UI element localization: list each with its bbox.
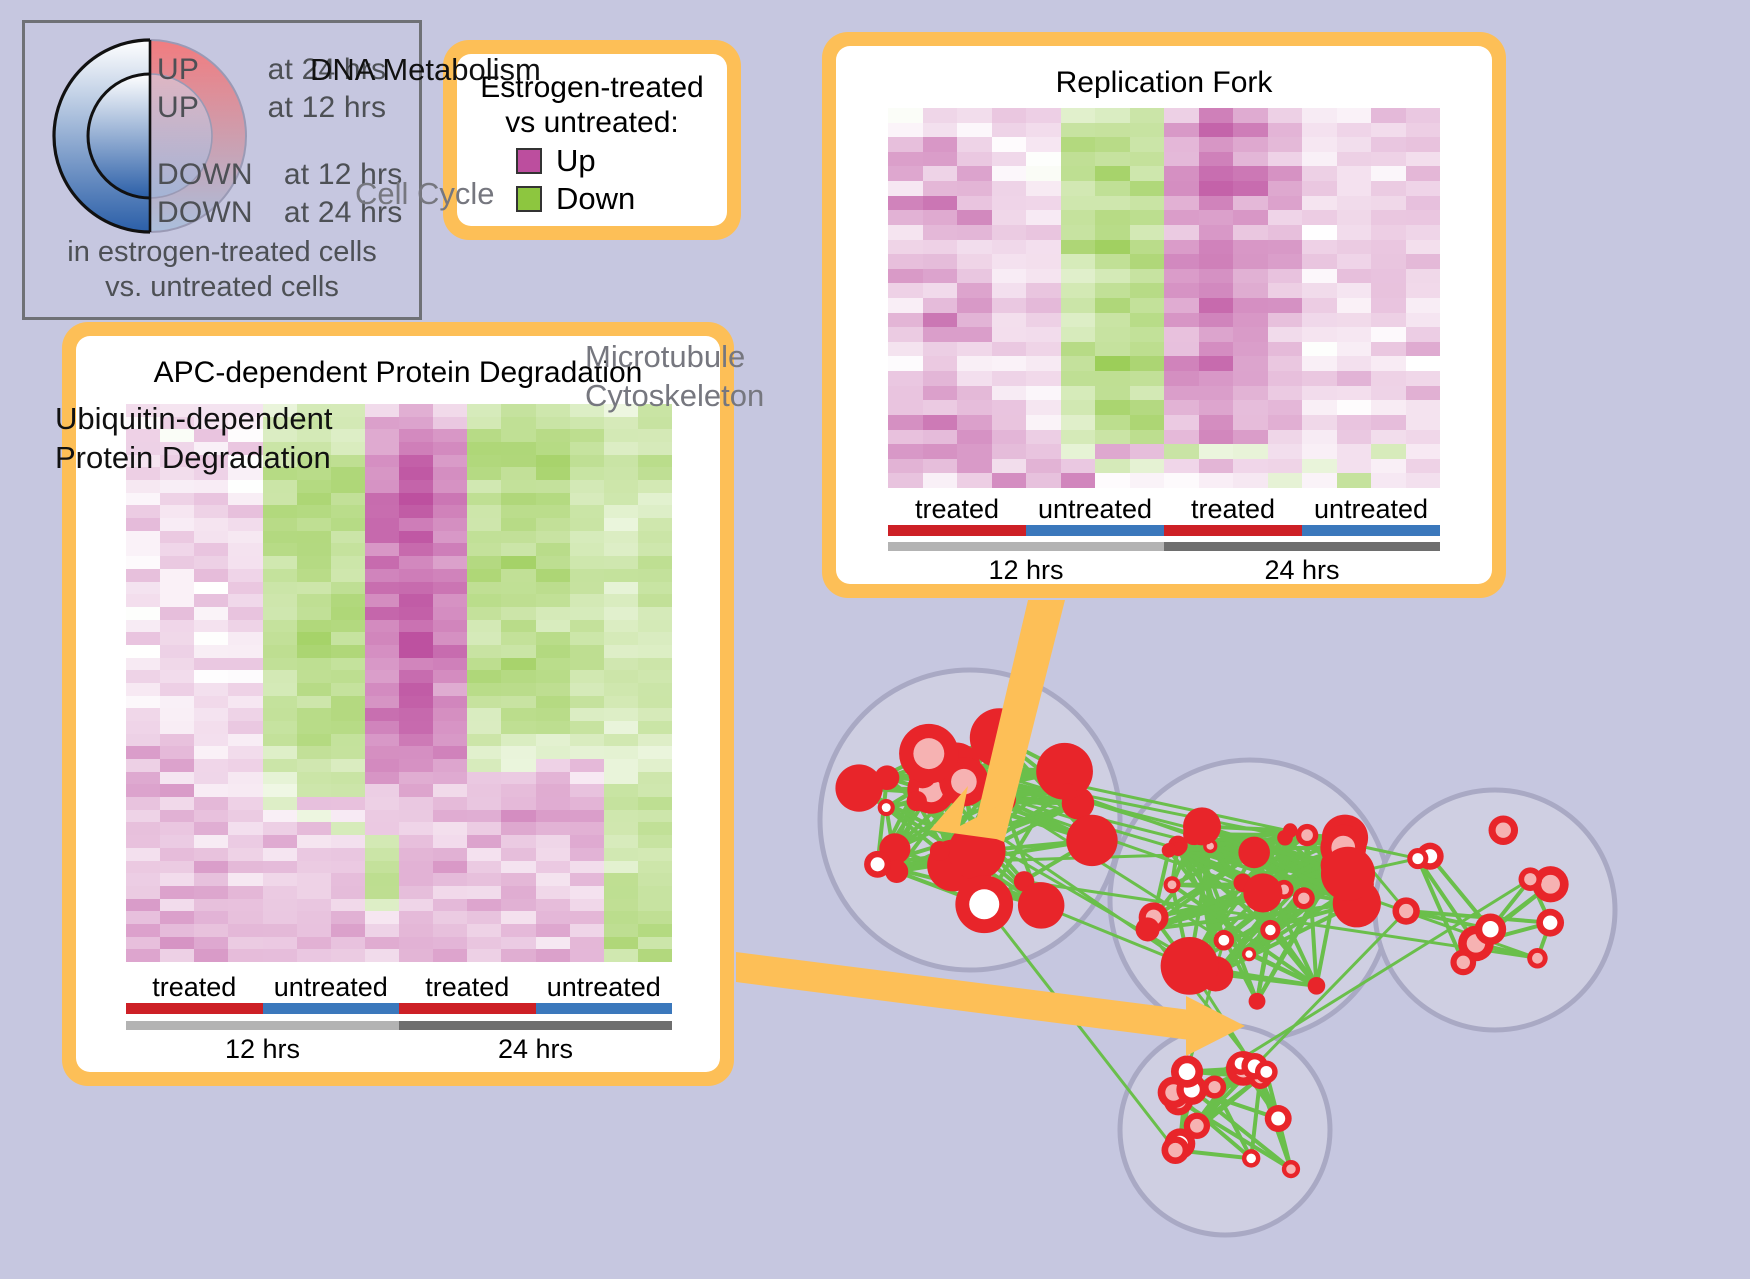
heatmap-cell xyxy=(399,797,433,810)
heatmap-cell xyxy=(399,861,433,874)
heatmap-cell xyxy=(536,873,570,886)
heatmap-cell xyxy=(1268,225,1303,240)
heatmap-cell xyxy=(194,734,228,747)
heatmap-cell xyxy=(297,949,331,962)
heatmap-cell xyxy=(433,924,467,937)
heatmap-cell xyxy=(263,543,297,556)
heatmap-cell xyxy=(194,721,228,734)
heatmap-cell xyxy=(957,254,992,269)
heatmap-cell xyxy=(263,594,297,607)
heatmap-cell xyxy=(501,493,535,506)
heatmap-cell xyxy=(399,835,433,848)
heatmap-cell xyxy=(1302,181,1337,196)
heatmap-cell xyxy=(1164,283,1199,298)
heatmap-cell xyxy=(1199,269,1234,284)
heatmap-cell xyxy=(992,196,1027,211)
heatmap-cell xyxy=(297,708,331,721)
heatmap-cell xyxy=(399,455,433,468)
heatmap-cell xyxy=(126,822,160,835)
heatmap-cell xyxy=(365,607,399,620)
network-node-core xyxy=(1301,829,1313,841)
heatmap-cell xyxy=(365,417,399,430)
heatmap-cell xyxy=(1233,210,1268,225)
heatmap-cell xyxy=(297,696,331,709)
network-node-core xyxy=(1168,880,1177,889)
heatmap-cell xyxy=(433,582,467,595)
heatmap-cell xyxy=(365,835,399,848)
heatmap-cell xyxy=(536,784,570,797)
heatmap-cell xyxy=(467,493,501,506)
heatmap-cell xyxy=(638,797,672,810)
heatmap-cell xyxy=(365,632,399,645)
heatmap-cell xyxy=(297,861,331,874)
heatmap-cell xyxy=(1095,283,1130,298)
heatmap-cell xyxy=(433,683,467,696)
key-direction: UP xyxy=(157,91,199,124)
heatmap-cell xyxy=(992,430,1027,445)
heatmap-cell xyxy=(126,772,160,785)
network-node-core xyxy=(1482,921,1498,937)
heatmap-cell xyxy=(297,759,331,772)
heatmap-cell xyxy=(365,746,399,759)
heatmap-cell xyxy=(365,822,399,835)
heatmap-cell xyxy=(1199,473,1234,488)
heatmap-cell xyxy=(923,459,958,474)
heatmap-cell xyxy=(604,708,638,721)
heatmap-cell xyxy=(501,556,535,569)
heatmap-cell xyxy=(263,835,297,848)
heatmap-cell xyxy=(638,899,672,912)
heatmap-cell xyxy=(433,822,467,835)
heatmap-cell xyxy=(570,886,604,899)
heatmap-cell xyxy=(1095,210,1130,225)
heatmap-cell xyxy=(638,784,672,797)
network-node-core xyxy=(1271,1112,1285,1126)
heatmap-cell xyxy=(467,543,501,556)
heatmap-cell xyxy=(501,607,535,620)
heatmap-cell xyxy=(992,283,1027,298)
heatmap-cell xyxy=(1130,137,1165,152)
heatmap-cell xyxy=(399,493,433,506)
heatmap-cell xyxy=(263,949,297,962)
heatmap-cell xyxy=(888,196,923,211)
heatmap-cell xyxy=(467,670,501,683)
heatmap-cell xyxy=(228,810,262,823)
heatmap-cell xyxy=(536,937,570,950)
heatmap-cell xyxy=(467,772,501,785)
heatmap-cell xyxy=(365,467,399,480)
heatmap-cell xyxy=(297,582,331,595)
heatmap-cell xyxy=(638,848,672,861)
heatmap-cell xyxy=(365,810,399,823)
heatmap-cell xyxy=(604,721,638,734)
heatmap-cell xyxy=(992,342,1027,357)
heatmap-cell xyxy=(467,467,501,480)
heatmap-cell xyxy=(501,899,535,912)
heatmap-cell xyxy=(1268,269,1303,284)
heatmap-cell xyxy=(604,810,638,823)
heatmap-cell xyxy=(1337,269,1372,284)
heatmap-cell xyxy=(1371,137,1406,152)
heatmap-cell xyxy=(160,658,194,671)
heatmap-cell xyxy=(263,670,297,683)
heatmap-cell xyxy=(1406,137,1441,152)
heatmap-cell xyxy=(467,404,501,417)
heatmap-cell xyxy=(570,442,604,455)
heatmap-cell xyxy=(399,734,433,747)
heatmap-cell xyxy=(604,582,638,595)
heatmap-cell xyxy=(1130,240,1165,255)
heatmap-cell xyxy=(331,810,365,823)
heatmap-cell xyxy=(1233,254,1268,269)
heatmap-cell xyxy=(536,810,570,823)
heatmap-cell xyxy=(297,505,331,518)
heatmap-cell xyxy=(536,899,570,912)
heatmap-cell xyxy=(1130,473,1165,488)
heatmap-cell xyxy=(365,759,399,772)
heatmap-cell xyxy=(228,886,262,899)
heatmap-cell xyxy=(570,569,604,582)
heatmap-cell xyxy=(923,313,958,328)
heatmap-cell xyxy=(160,772,194,785)
network-node-core xyxy=(1179,1063,1196,1080)
heatmap-cell xyxy=(536,505,570,518)
network-node xyxy=(1321,847,1375,901)
heatmap-cell xyxy=(1095,152,1130,167)
heatmap-cell xyxy=(1337,137,1372,152)
time-labels: 12 hrs24 hrs xyxy=(126,1034,672,1065)
heatmap-cell xyxy=(604,505,638,518)
heatmap-cell xyxy=(888,313,923,328)
heatmap-cell xyxy=(957,342,992,357)
heatmap-cell xyxy=(433,949,467,962)
heatmap-cell xyxy=(638,721,672,734)
heatmap-cell xyxy=(467,518,501,531)
heatmap-cell xyxy=(1371,386,1406,401)
heatmap-cell xyxy=(536,886,570,899)
heatmap-cell xyxy=(604,746,638,759)
heatmap-cell xyxy=(467,924,501,937)
heatmap-cell xyxy=(1095,327,1130,342)
heatmap-cell xyxy=(331,582,365,595)
heatmap-cell xyxy=(992,210,1027,225)
heatmap-cell xyxy=(1130,444,1165,459)
time-label: 24 hrs xyxy=(399,1034,672,1065)
heatmap-cell xyxy=(1026,108,1061,123)
heatmap-cell xyxy=(501,696,535,709)
heatmap-cell xyxy=(1164,166,1199,181)
heatmap-cell xyxy=(1130,225,1165,240)
network-node xyxy=(907,791,927,811)
heatmap-cell xyxy=(297,810,331,823)
heatmap-cell xyxy=(467,899,501,912)
replication-fork-panel: Replication Fork treateduntreatedtreated… xyxy=(822,32,1506,598)
heatmap-cell xyxy=(331,797,365,810)
heatmap-cell xyxy=(263,493,297,506)
heatmap-cell xyxy=(1337,473,1372,488)
heatmap-cell xyxy=(570,746,604,759)
heatmap-cell xyxy=(604,670,638,683)
heatmap-cell xyxy=(467,582,501,595)
time-bar-segment xyxy=(126,1021,399,1030)
heatmap-cell xyxy=(536,911,570,924)
heatmap-cell xyxy=(536,429,570,442)
heatmap-cell xyxy=(957,181,992,196)
heatmap-cell xyxy=(604,417,638,430)
heatmap-cell xyxy=(331,886,365,899)
heatmap-cell xyxy=(1406,298,1441,313)
heatmap-cell xyxy=(1268,137,1303,152)
group-bar-segment xyxy=(1302,525,1440,536)
group-label: treated xyxy=(126,972,263,1003)
heatmap-cell xyxy=(923,166,958,181)
heatmap-cell xyxy=(1130,430,1165,445)
heatmap-cell xyxy=(888,240,923,255)
heatmap-cell xyxy=(1164,430,1199,445)
heatmap-cell xyxy=(570,759,604,772)
network-node-core xyxy=(1265,925,1276,936)
heatmap-cell xyxy=(194,772,228,785)
heatmap-cell xyxy=(1199,210,1234,225)
heatmap-cell xyxy=(263,797,297,810)
heatmap-cell xyxy=(1302,240,1337,255)
heatmap-cell xyxy=(263,924,297,937)
heatmap-cell xyxy=(194,620,228,633)
heatmap-cell xyxy=(1302,269,1337,284)
heatmap-cell xyxy=(297,683,331,696)
heatmap-cell xyxy=(1406,313,1441,328)
heatmap-cell xyxy=(263,746,297,759)
heatmap-cell xyxy=(501,429,535,442)
network-node xyxy=(1243,873,1282,912)
heatmap-cell xyxy=(433,848,467,861)
heatmap-cell xyxy=(1302,298,1337,313)
heatmap-cell xyxy=(467,949,501,962)
heatmap-cell xyxy=(365,493,399,506)
heatmap-cell xyxy=(638,518,672,531)
heatmap-cell xyxy=(1406,444,1441,459)
heatmap-cell xyxy=(888,444,923,459)
heatmap-cell xyxy=(1233,225,1268,240)
network-diagram xyxy=(795,610,1750,1279)
heatmap-cell xyxy=(501,937,535,950)
heatmap-cell xyxy=(1406,415,1441,430)
heatmap-cell xyxy=(1406,459,1441,474)
heatmap-cell xyxy=(228,911,262,924)
heatmap-cell xyxy=(1268,313,1303,328)
heatmap-cell xyxy=(1233,137,1268,152)
heatmap-cell xyxy=(467,696,501,709)
heatmap-cell xyxy=(1371,444,1406,459)
heatmap-cell xyxy=(604,924,638,937)
heatmap-cell xyxy=(331,759,365,772)
heatmap-cell xyxy=(228,670,262,683)
replication-fork-heatmap xyxy=(888,108,1440,488)
heatmap-cell xyxy=(501,594,535,607)
heatmap-cell xyxy=(126,582,160,595)
network-node-core xyxy=(1543,915,1557,929)
heatmap-cell xyxy=(501,886,535,899)
heatmap-cell xyxy=(1199,240,1234,255)
heatmap-cell xyxy=(957,269,992,284)
heatmap-cell xyxy=(1302,210,1337,225)
heatmap-cell xyxy=(1371,181,1406,196)
heatmap-cell xyxy=(1026,240,1061,255)
heatmap-cell xyxy=(365,734,399,747)
heatmap-cell xyxy=(604,835,638,848)
heatmap-cell xyxy=(194,708,228,721)
heatmap-cell xyxy=(467,620,501,633)
heatmap-cell xyxy=(126,873,160,886)
heatmap-cell xyxy=(1061,459,1096,474)
label-microtubule-line1: Microtubule xyxy=(585,338,764,377)
heatmap-cell xyxy=(1406,166,1441,181)
heatmap-cell xyxy=(1406,327,1441,342)
heatmap-cell xyxy=(399,696,433,709)
heatmap-cell xyxy=(957,152,992,167)
heatmap-cell xyxy=(331,632,365,645)
heatmap-cell xyxy=(467,759,501,772)
legend-item-down: Down xyxy=(457,181,727,217)
heatmap-cell xyxy=(297,886,331,899)
heatmap-cell xyxy=(1406,400,1441,415)
heatmap-cell xyxy=(365,772,399,785)
heatmap-cell xyxy=(228,873,262,886)
network-node-core xyxy=(1260,1066,1272,1078)
network-node-core xyxy=(1245,950,1252,957)
heatmap-cell xyxy=(126,569,160,582)
heatmap-cell xyxy=(957,283,992,298)
heatmap-cell xyxy=(638,455,672,468)
heatmap-cell xyxy=(1371,327,1406,342)
network-node xyxy=(835,764,882,811)
heatmap-cell xyxy=(638,658,672,671)
heatmap-cell xyxy=(923,327,958,342)
heatmap-cell xyxy=(888,356,923,371)
heatmap-cell xyxy=(604,620,638,633)
heatmap-cell xyxy=(433,556,467,569)
heatmap-cell xyxy=(957,225,992,240)
heatmap-cell xyxy=(263,822,297,835)
heatmap-cell xyxy=(1164,371,1199,386)
heatmap-cell xyxy=(1164,181,1199,196)
heatmap-cell xyxy=(536,455,570,468)
heatmap-cell xyxy=(570,822,604,835)
heatmap-cell xyxy=(433,620,467,633)
heatmap-cell xyxy=(992,137,1027,152)
heatmap-cell xyxy=(957,210,992,225)
heatmap-cell xyxy=(399,518,433,531)
heatmap-cell xyxy=(1302,430,1337,445)
heatmap-cell xyxy=(604,467,638,480)
heatmap-cell xyxy=(957,166,992,181)
heatmap-cell xyxy=(297,531,331,544)
heatmap-cell xyxy=(194,505,228,518)
apc-axis: treateduntreatedtreateduntreated 12 hrs2… xyxy=(126,972,672,1065)
heatmap-cell xyxy=(1164,415,1199,430)
heatmap-cell xyxy=(1233,415,1268,430)
heatmap-cell xyxy=(467,442,501,455)
heatmap-cell xyxy=(1337,356,1372,371)
heatmap-cell xyxy=(638,696,672,709)
heatmap-cell xyxy=(365,797,399,810)
heatmap-cell xyxy=(1026,123,1061,138)
heatmap-cell xyxy=(228,708,262,721)
heatmap-cell xyxy=(1164,327,1199,342)
heatmap-cell xyxy=(365,721,399,734)
heatmap-cell xyxy=(501,569,535,582)
heatmap-cell xyxy=(570,594,604,607)
heatmap-cell xyxy=(399,569,433,582)
heatmap-cell xyxy=(638,746,672,759)
heatmap-cell xyxy=(1233,400,1268,415)
heatmap-cell xyxy=(1164,444,1199,459)
heatmap-cell xyxy=(1233,342,1268,357)
heatmap-cell xyxy=(1095,108,1130,123)
heatmap-cell xyxy=(1026,327,1061,342)
time-labels: 12 hrs24 hrs xyxy=(888,555,1440,584)
heatmap-cell xyxy=(923,137,958,152)
heatmap-cell xyxy=(331,467,365,480)
heatmap-cell xyxy=(263,937,297,950)
heatmap-cell xyxy=(992,356,1027,371)
heatmap-cell xyxy=(1199,342,1234,357)
heatmap-cell xyxy=(228,949,262,962)
heatmap-cell xyxy=(1164,210,1199,225)
heatmap-cell xyxy=(1337,444,1372,459)
heatmap-cell xyxy=(160,594,194,607)
network-node xyxy=(1059,783,1076,800)
heatmap-cell xyxy=(888,152,923,167)
heatmap-cell xyxy=(957,108,992,123)
heatmap-cell xyxy=(957,400,992,415)
heatmap-cell xyxy=(1164,108,1199,123)
heatmap-cell xyxy=(194,873,228,886)
heatmap-cell xyxy=(331,594,365,607)
heatmap-cell xyxy=(604,645,638,658)
heatmap-cell xyxy=(263,518,297,531)
heatmap-cell xyxy=(263,632,297,645)
heatmap-cell xyxy=(297,911,331,924)
heatmap-cell xyxy=(126,734,160,747)
heatmap-cell xyxy=(536,721,570,734)
network-node-core xyxy=(1246,1154,1256,1164)
heatmap-cell xyxy=(604,784,638,797)
heatmap-cell xyxy=(433,734,467,747)
heatmap-cell xyxy=(923,283,958,298)
heatmap-cell xyxy=(297,746,331,759)
heatmap-cell xyxy=(467,607,501,620)
heatmap-cell xyxy=(433,531,467,544)
heatmap-cell xyxy=(399,417,433,430)
heatmap-cell xyxy=(1302,415,1337,430)
heatmap-cell xyxy=(433,505,467,518)
heatmap-cell xyxy=(888,400,923,415)
heatmap-cell xyxy=(297,620,331,633)
heatmap-cell xyxy=(297,493,331,506)
heatmap-cell xyxy=(1061,166,1096,181)
heatmap-cell xyxy=(1130,386,1165,401)
heatmap-cell xyxy=(331,658,365,671)
heatmap-cell xyxy=(228,924,262,937)
heatmap-cell xyxy=(1026,298,1061,313)
heatmap-cell xyxy=(331,696,365,709)
heatmap-cell xyxy=(263,848,297,861)
heatmap-cell xyxy=(1371,210,1406,225)
heatmap-cell xyxy=(536,861,570,874)
heatmap-cell xyxy=(957,137,992,152)
heatmap-cell xyxy=(992,400,1027,415)
